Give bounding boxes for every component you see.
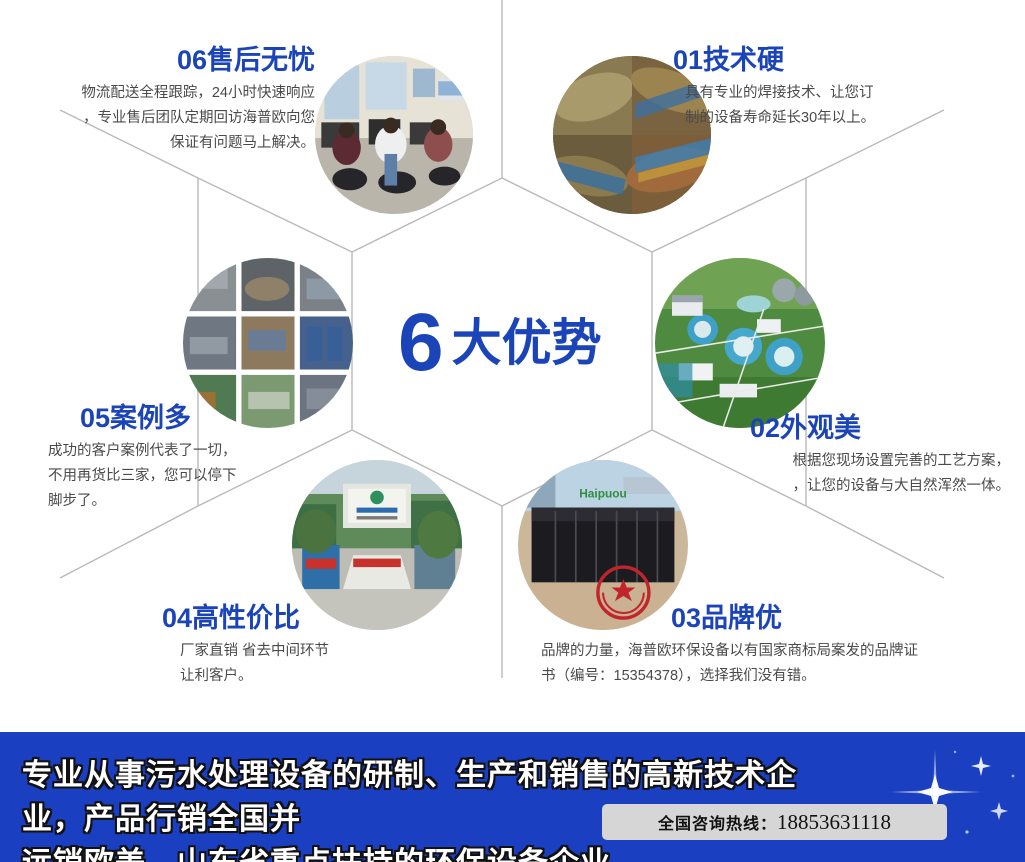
hex-spoke-upper-left (198, 178, 352, 252)
hotline-box[interactable]: 全国咨询热线： 18853631118 (602, 804, 947, 840)
feature-02-heading: 02外观美 (688, 414, 1010, 444)
feature-01-heading: 01技术硬 (673, 46, 1003, 76)
feature-01-body: 具有专业的焊接技术、让您订 制的设备寿命延长30年以上。 (673, 81, 1003, 131)
bottom-banner: 专业从事污水处理设备的研制、生产和销售的高新技术企业，产品行销全国并 远销欧美，… (0, 732, 1025, 862)
feature-03-heading: 03品牌优 (541, 604, 1011, 634)
outer-diagonal-bottom-left (60, 506, 198, 578)
center-title: 6 大优势 (398, 288, 628, 398)
svg-text:Haipuou: Haipuou (579, 486, 627, 500)
hotline-label: 全国咨询热线： (658, 810, 777, 834)
infographic-root: 6 大优势 (0, 0, 1025, 862)
case-collage-photo (183, 258, 353, 428)
feature-02-appearance: 02外观美 根据您现场设置完善的工艺方案， ，让您的设备与大自然浑然一体。 (688, 414, 1010, 499)
feature-02-body: 根据您现场设置完善的工艺方案， ，让您的设备与大自然浑然一体。 (688, 449, 1010, 499)
feature-01-technology: 01技术硬 具有专业的焊接技术、让您订 制的设备寿命延长30年以上。 (673, 46, 1003, 131)
feature-06-after-sales: 06售后无忧 物流配送全程跟踪，24小时快速响应 ，专业售后团队定期回访海普欧向… (10, 46, 315, 156)
banner-line-2: 远销欧美，山东省重点扶持的环保设备企业。 (22, 842, 822, 862)
feature-05-body: 成功的客户案例代表了一切， 不用再货比三家，您可以停下 脚步了。 (48, 439, 348, 514)
feature-04-heading: 04高性价比 (162, 604, 482, 634)
feature-04-cost-performance: 04高性价比 厂家直销 省去中间环节 让利客户。 (162, 604, 482, 689)
feature-05-heading: 05案例多 (48, 404, 348, 434)
center-word: 大优势 (452, 318, 602, 368)
feature-04-body: 厂家直销 省去中间环节 让利客户。 (162, 639, 482, 689)
feature-06-body: 物流配送全程跟踪，24小时快速响应 ，专业售后团队定期回访海普欧向您 保证有问题… (10, 81, 315, 156)
feature-03-brand: 03品牌优 品牌的力量，海普欧环保设备以有国家商标局案发的品牌证 书（编号：15… (541, 604, 1011, 689)
feature-06-heading: 06售后无忧 (10, 46, 315, 76)
aerial-treatment-plant-photo (655, 258, 825, 428)
hotline-number: 18853631118 (777, 810, 891, 835)
outer-diagonal-bottom-right (806, 506, 944, 578)
feature-03-body: 品牌的力量，海普欧环保设备以有国家商标局案发的品牌证 书（编号：15354378… (541, 639, 1011, 689)
office-staff-photo (315, 56, 473, 214)
center-number: 6 (398, 302, 442, 384)
feature-05-cases: 05案例多 成功的客户案例代表了一切， 不用再货比三家，您可以停下 脚步了。 (48, 404, 348, 514)
